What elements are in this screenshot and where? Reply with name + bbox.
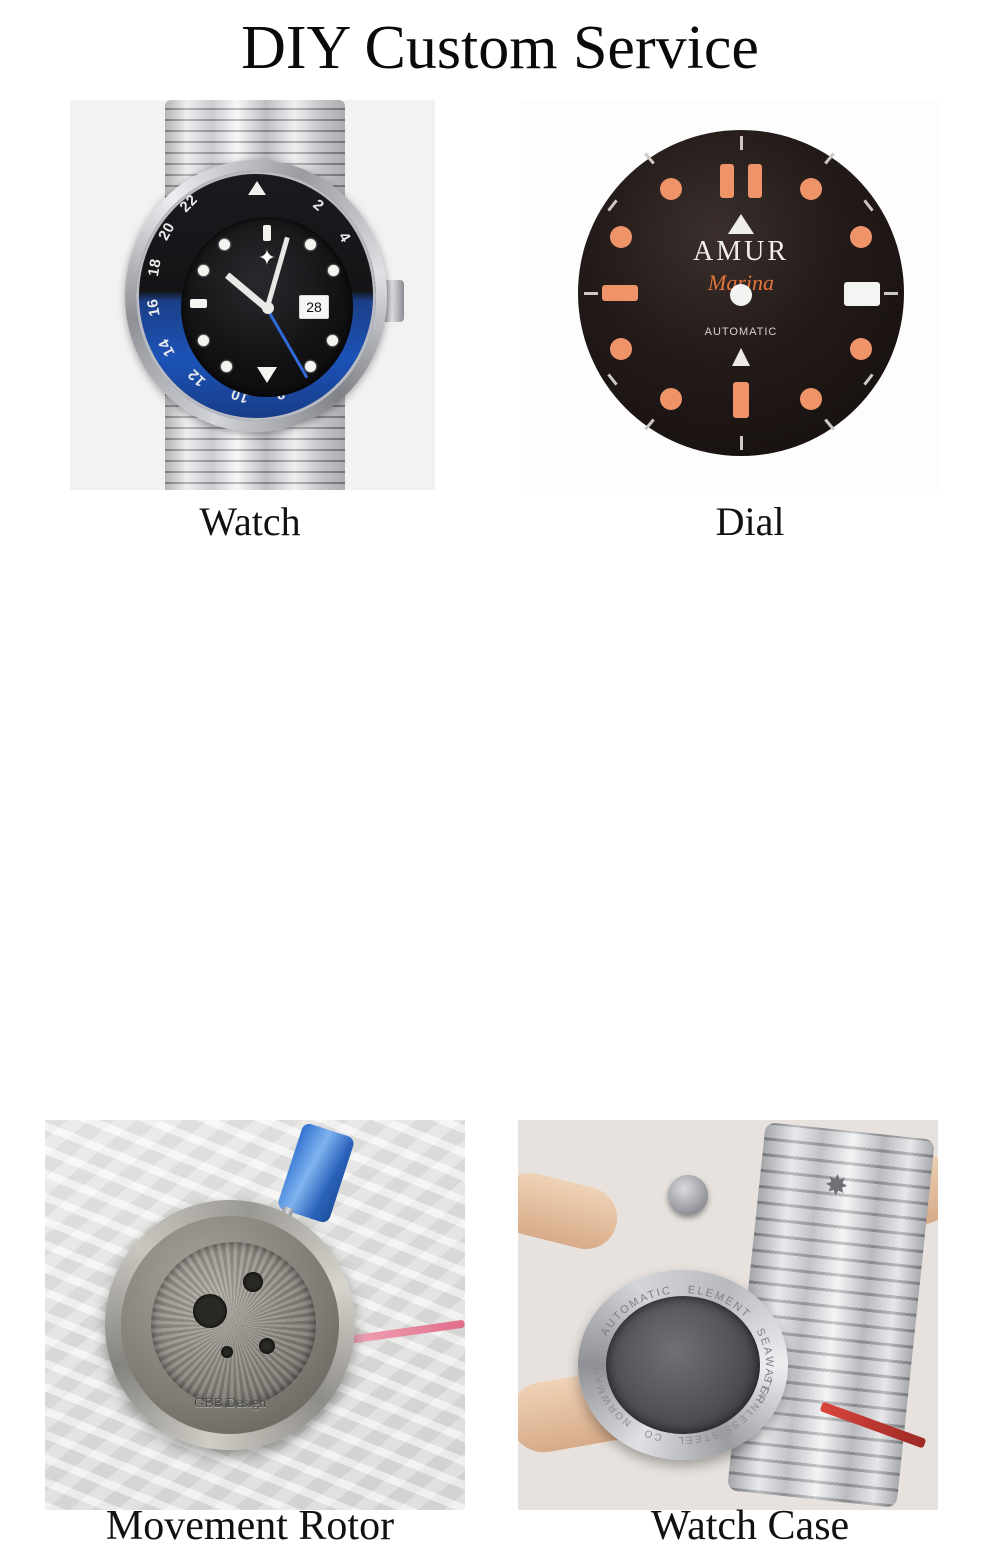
minute-tick bbox=[607, 199, 617, 211]
hour-marker-4 bbox=[850, 338, 872, 360]
oscillating-rotor bbox=[151, 1242, 316, 1407]
hour-marker-7 bbox=[221, 361, 232, 372]
caption-watch: Watch bbox=[0, 498, 500, 545]
watch-case-photo: ✸ AUTOMATIC ELEMENT SEAWATER STAINLESS S… bbox=[518, 1120, 938, 1510]
hour-marker-1 bbox=[305, 239, 316, 250]
cell-watch: 22 20 18 16 14 12 10 8 6 4 2 ✦ bbox=[0, 0, 500, 560]
rotor-jewel-hole bbox=[193, 1294, 227, 1328]
dial-automatic-text: AUTOMATIC bbox=[578, 326, 904, 338]
hour-marker-8 bbox=[198, 335, 209, 346]
bezel-number-16: 16 bbox=[144, 297, 164, 317]
watch-photo: 22 20 18 16 14 12 10 8 6 4 2 ✦ bbox=[70, 100, 435, 490]
bezel-number-18: 18 bbox=[145, 257, 165, 277]
hour-marker-1 bbox=[800, 178, 822, 200]
hour-marker-12 bbox=[263, 225, 271, 241]
minute-tick bbox=[740, 436, 743, 450]
caption-movement-rotor: Movement Rotor bbox=[0, 1502, 500, 1550]
watch-case-ring: AUTOMATIC ELEMENT SEAWATER STAINLESS STE… bbox=[578, 1270, 788, 1460]
minute-tick bbox=[863, 199, 873, 211]
dial-gmt-arrow-icon bbox=[732, 348, 750, 366]
case-ring-inner bbox=[606, 1296, 760, 1434]
watch-case-body: 22 20 18 16 14 12 10 8 6 4 2 ✦ bbox=[125, 160, 387, 432]
hour-marker-10 bbox=[198, 265, 209, 276]
dial-brand-triangle-icon bbox=[728, 214, 754, 234]
minute-tick bbox=[644, 153, 655, 165]
rotor-center-hole bbox=[221, 1346, 233, 1358]
dial-brand: AMUR bbox=[578, 236, 904, 268]
hour-marker-11 bbox=[219, 239, 230, 250]
clasp-crown-icon: ✸ bbox=[818, 1168, 855, 1205]
bezel-pip-triangle bbox=[248, 181, 266, 195]
hour-marker-6-triangle bbox=[257, 367, 277, 383]
hour-marker-9 bbox=[190, 299, 207, 308]
minute-tick bbox=[607, 373, 617, 385]
hour-marker-12-right bbox=[748, 164, 762, 198]
gmt-bezel: 22 20 18 16 14 12 10 8 6 4 2 ✦ bbox=[136, 171, 376, 421]
movement-body: GBB Design bbox=[105, 1200, 355, 1450]
cell-movement-rotor: GBB Design Movement Rotor bbox=[0, 560, 500, 1000]
hour-marker-7 bbox=[660, 388, 682, 410]
hour-marker-5 bbox=[800, 388, 822, 410]
caption-dial: Dial bbox=[500, 498, 1000, 545]
hour-marker-4 bbox=[327, 335, 338, 346]
dial-logo-icon: ✦ bbox=[258, 247, 276, 269]
rotor-small-hole bbox=[259, 1338, 275, 1354]
dial-center-dot bbox=[730, 284, 752, 306]
minute-tick bbox=[824, 153, 835, 165]
dial-photo: AMUR Marina AUTOMATIC bbox=[520, 100, 940, 490]
cell-watch-case: ✸ AUTOMATIC ELEMENT SEAWATER STAINLESS S… bbox=[500, 560, 1000, 1000]
minute-tick bbox=[740, 136, 743, 150]
bezel-number-2: 2 bbox=[310, 196, 328, 215]
minute-tick bbox=[863, 373, 873, 385]
hands-center-cap bbox=[262, 302, 274, 314]
bezel-number-22: 22 bbox=[177, 191, 202, 216]
watch-dial: ✦ 28 bbox=[181, 217, 353, 397]
hour-marker-11 bbox=[660, 178, 682, 200]
bezel-number-14: 14 bbox=[155, 336, 178, 360]
cell-dial: AMUR Marina AUTOMATIC Dial bbox=[500, 0, 1000, 560]
dial-disc: AMUR Marina AUTOMATIC bbox=[578, 130, 904, 456]
hour-marker-2 bbox=[328, 265, 339, 276]
minute-tick bbox=[824, 419, 835, 431]
movement-rotor-photo: GBB Design bbox=[45, 1120, 465, 1510]
caption-watch-case: Watch Case bbox=[500, 1502, 1000, 1550]
hour-marker-6 bbox=[733, 382, 749, 418]
minute-tick bbox=[644, 419, 655, 431]
rotor-gear-hole bbox=[243, 1272, 263, 1292]
date-window: 28 bbox=[299, 295, 329, 319]
loose-crown-part bbox=[668, 1175, 708, 1215]
hour-marker-8 bbox=[610, 338, 632, 360]
hour-marker-12-left bbox=[720, 164, 734, 198]
movement-engraving: GBB Design bbox=[105, 1396, 355, 1412]
poster-root: DIY Custom Service 22 20 18 16 14 12 10 … bbox=[0, 0, 1000, 1000]
bezel-number-4: 4 bbox=[335, 229, 354, 246]
hour-marker-5 bbox=[305, 361, 316, 372]
bezel-number-20: 20 bbox=[155, 220, 178, 244]
